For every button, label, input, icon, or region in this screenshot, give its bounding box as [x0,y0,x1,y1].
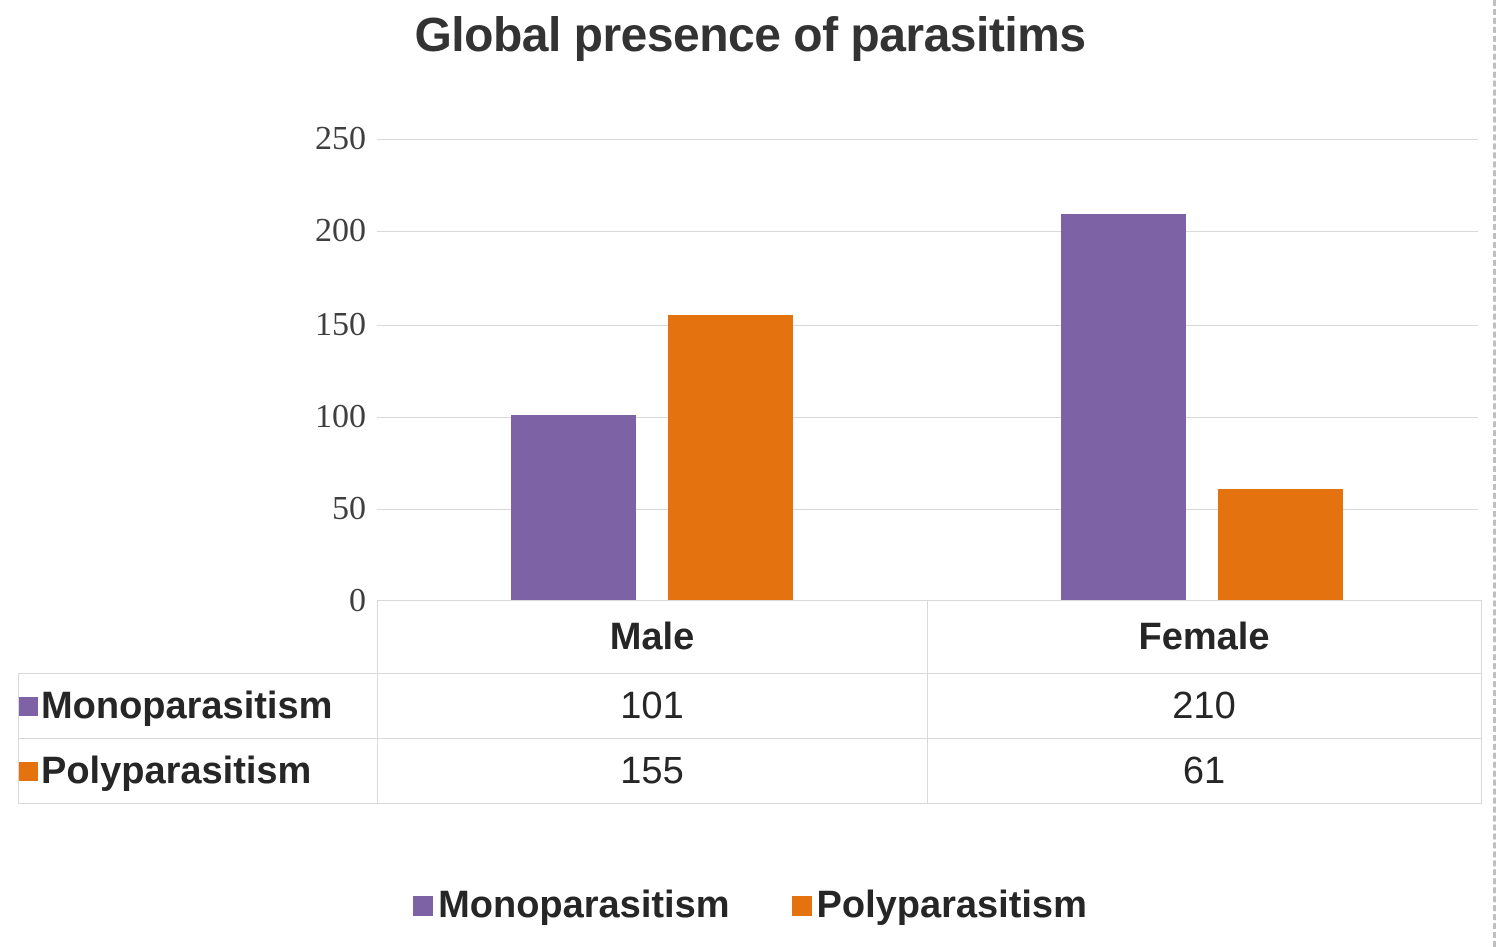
legend-swatch-mono-icon [413,896,433,916]
legend-item-monoparasitism[interactable]: Monoparasitism [413,884,729,927]
bar-female-polyparasitism[interactable] [1218,489,1343,601]
y-tick-label-100: 100 [246,400,366,434]
legend-swatch-poly-icon [792,896,812,916]
table-cell-mono-female: 210 [927,674,1481,739]
y-tick-label-50: 50 [246,492,366,526]
table-row: Monoparasitism 101 210 [19,674,1482,739]
mono-swatch-icon [19,697,38,716]
chart-legend: Monoparasitism Polyparasitism [0,884,1500,927]
legend-item-polyparasitism[interactable]: Polyparasitism [792,884,1087,927]
chart-title: Global presence of parasitims [0,8,1500,63]
legend-label: Monoparasitism [438,884,729,927]
plot-area [377,139,1478,601]
gridline-150 [377,325,1478,326]
table-row-label-text: Monoparasitism [41,685,332,727]
table-row-label-polyparasitism: Polyparasitism [19,739,378,804]
table-cell-poly-male: 155 [377,739,927,804]
legend-label: Polyparasitism [817,884,1087,927]
gridline-250 [377,139,1478,140]
gridline-200 [377,231,1478,232]
chart-slide: Global presence of parasitims 250 200 15… [0,0,1500,947]
table-corner-cell [19,601,378,674]
bar-male-polyparasitism[interactable] [668,315,793,601]
table-row-label-text: Polyparasitism [41,750,311,792]
y-tick-label-150: 150 [246,308,366,342]
table-header-row: Male Female [19,601,1482,674]
poly-swatch-icon [19,762,38,781]
y-tick-label-250: 250 [246,122,366,156]
y-tick-label-200: 200 [246,214,366,248]
data-table: Male Female Monoparasitism 101 210 Polyp… [18,600,1482,804]
bar-male-monoparasitism[interactable] [511,415,636,601]
table-row: Polyparasitism 155 61 [19,739,1482,804]
table-cell-poly-female: 61 [927,739,1481,804]
table-header-male: Male [377,601,927,674]
table-cell-mono-male: 101 [377,674,927,739]
table-header-female: Female [927,601,1481,674]
bar-female-monoparasitism[interactable] [1061,214,1186,601]
slide-edge-guide [1493,0,1496,947]
table-row-label-monoparasitism: Monoparasitism [19,674,378,739]
